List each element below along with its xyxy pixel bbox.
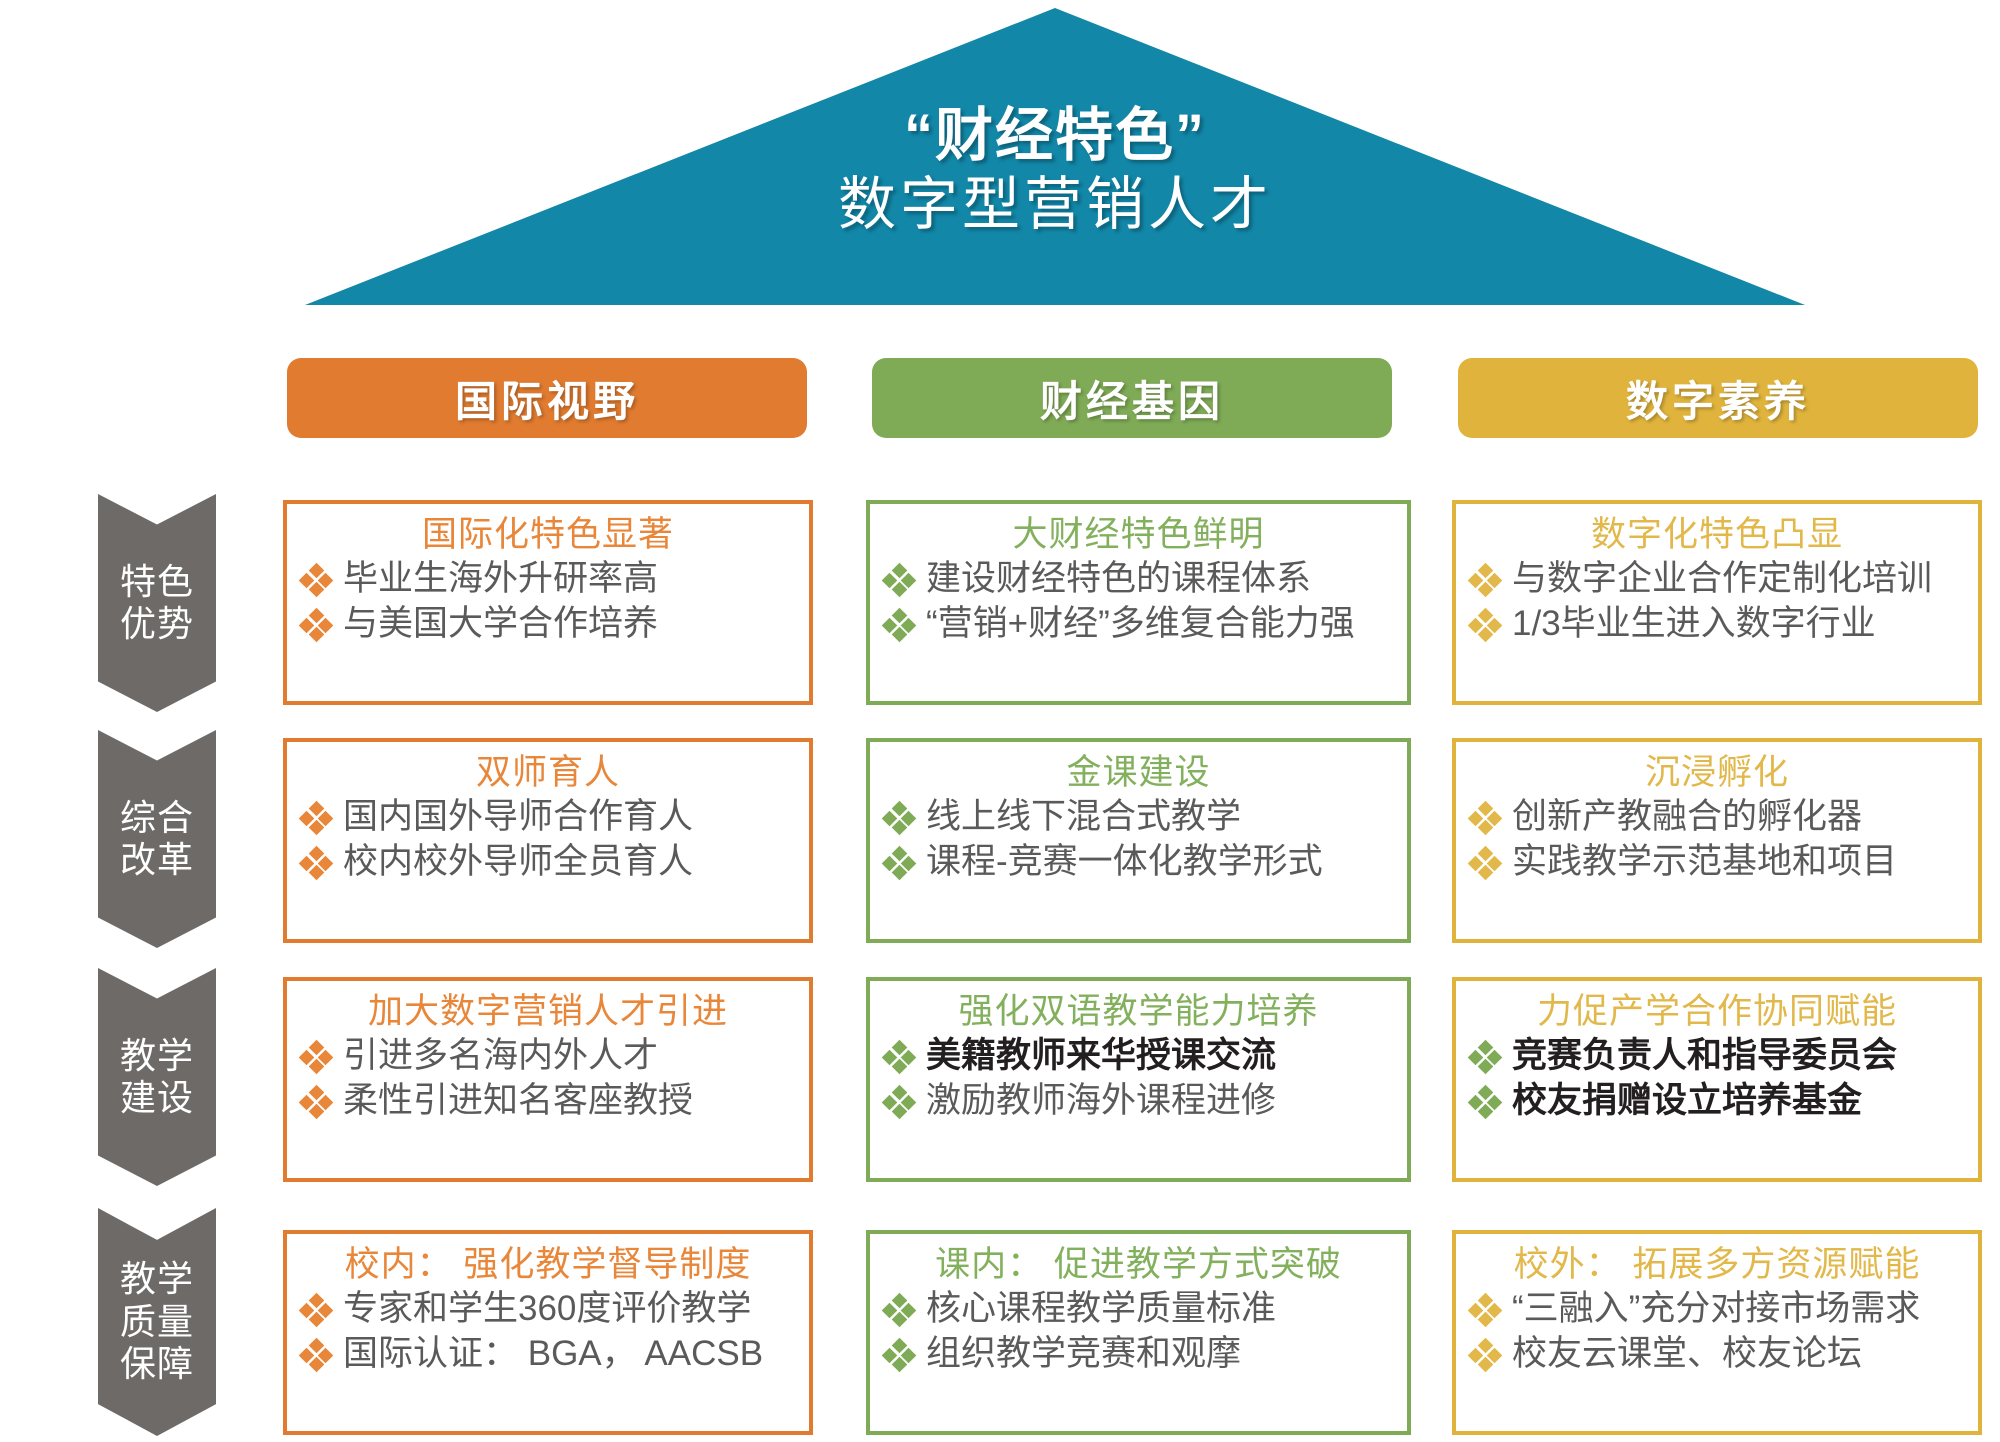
list-item: 线上线下混合式教学 bbox=[884, 795, 1393, 839]
list-item: 国际认证： BGA， AACSB bbox=[301, 1332, 795, 1376]
row-label-line: 建设 bbox=[120, 1077, 194, 1119]
roof-title-group: “财经特色” 数字型营销人才 bbox=[305, 104, 1805, 238]
card-finance-features[interactable]: 大财经特色鲜明建设财经特色的课程体系“营销+财经”多维复合能力强 bbox=[866, 500, 1411, 705]
list-item-text: 校内校外导师全员育人 bbox=[343, 840, 693, 884]
diamond-cluster-icon bbox=[1470, 848, 1500, 878]
slide-canvas: “财经特色” 数字型营销人才 国际视野 财经基因 数字素养 特色 优势 综合 改… bbox=[0, 0, 2000, 1442]
card-title: 沉浸孵化 bbox=[1470, 752, 1964, 793]
list-item: 实践教学示范基地和项目 bbox=[1470, 840, 1964, 884]
list-item-text: 激励教师海外课程进修 bbox=[926, 1079, 1276, 1123]
card-digital-quality[interactable]: 校外： 拓展多方资源赋能“三融入”充分对接市场需求校友云课堂、校友论坛 bbox=[1452, 1230, 1982, 1435]
list-item: “营销+财经”多维复合能力强 bbox=[884, 602, 1393, 646]
card-bullet-list: 专家和学生360度评价教学国际认证： BGA， AACSB bbox=[301, 1287, 795, 1376]
row-label-quality-assurance[interactable]: 教学 质量 保障 bbox=[98, 1208, 216, 1436]
list-item-text: 毕业生海外升研率高 bbox=[343, 557, 658, 601]
list-item: 1/3毕业生进入数字行业 bbox=[1470, 602, 1964, 646]
list-item-text: 与美国大学合作培养 bbox=[343, 602, 658, 646]
diamond-cluster-icon bbox=[1470, 1042, 1500, 1072]
card-bullet-list: “三融入”充分对接市场需求校友云课堂、校友论坛 bbox=[1470, 1287, 1964, 1376]
card-bullet-list: 核心课程教学质量标准组织教学竞赛和观摩 bbox=[884, 1287, 1393, 1376]
row-label-line: 综合 bbox=[120, 797, 194, 839]
list-item-text: 引进多名海内外人才 bbox=[343, 1034, 658, 1078]
card-title: 金课建设 bbox=[884, 752, 1393, 793]
card-title: 校内： 强化教学督导制度 bbox=[301, 1244, 795, 1285]
list-item: 引进多名海内外人才 bbox=[301, 1034, 795, 1078]
diamond-cluster-icon bbox=[884, 1042, 914, 1072]
diamond-cluster-icon bbox=[301, 1295, 331, 1325]
card-international-teaching[interactable]: 加大数字营销人才引进引进多名海内外人才柔性引进知名客座教授 bbox=[283, 977, 813, 1182]
list-item-text: 1/3毕业生进入数字行业 bbox=[1512, 602, 1876, 646]
card-digital-teaching[interactable]: 力促产学合作协同赋能竞赛负责人和指导委员会校友捐赠设立培养基金 bbox=[1452, 977, 1982, 1182]
row-label-features[interactable]: 特色 优势 bbox=[98, 494, 216, 712]
diamond-cluster-icon bbox=[301, 1042, 331, 1072]
roof-title-line2: 数字型营销人才 bbox=[305, 173, 1805, 238]
card-title: 力促产学合作协同赋能 bbox=[1470, 991, 1964, 1032]
list-item: 专家和学生360度评价教学 bbox=[301, 1287, 795, 1331]
card-digital-reform[interactable]: 沉浸孵化创新产教融合的孵化器实践教学示范基地和项目 bbox=[1452, 738, 1982, 943]
list-item-text: 校友云课堂、校友论坛 bbox=[1512, 1332, 1862, 1376]
row-label-line: 保障 bbox=[120, 1343, 194, 1385]
roof-banner: “财经特色” 数字型营销人才 bbox=[305, 8, 1805, 305]
list-item-text: 专家和学生360度评价教学 bbox=[343, 1287, 751, 1331]
card-title: 国际化特色显著 bbox=[301, 514, 795, 555]
diamond-cluster-icon bbox=[301, 848, 331, 878]
diamond-cluster-icon bbox=[884, 803, 914, 833]
list-item-text: 国际认证： BGA， AACSB bbox=[343, 1332, 763, 1376]
row-label-line: 改革 bbox=[120, 839, 194, 881]
card-title: 强化双语教学能力培养 bbox=[884, 991, 1393, 1032]
list-item-text: 建设财经特色的课程体系 bbox=[926, 557, 1311, 601]
diamond-cluster-icon bbox=[884, 1295, 914, 1325]
card-finance-teaching[interactable]: 强化双语教学能力培养美籍教师来华授课交流激励教师海外课程进修 bbox=[866, 977, 1411, 1182]
diamond-cluster-icon bbox=[884, 1340, 914, 1370]
card-title: 课内： 促进教学方式突破 bbox=[884, 1244, 1393, 1285]
list-item-text: 国内国外导师合作育人 bbox=[343, 795, 693, 839]
diamond-cluster-icon bbox=[301, 803, 331, 833]
diamond-cluster-icon bbox=[1470, 803, 1500, 833]
roof-title-line1: “财经特色” bbox=[305, 104, 1805, 169]
list-item: 创新产教融合的孵化器 bbox=[1470, 795, 1964, 839]
list-item: 校友捐赠设立培养基金 bbox=[1470, 1079, 1964, 1123]
list-item-text: 课程-竞赛一体化教学形式 bbox=[926, 840, 1323, 884]
list-item-text: 创新产教融合的孵化器 bbox=[1512, 795, 1862, 839]
card-finance-quality[interactable]: 课内： 促进教学方式突破核心课程教学质量标准组织教学竞赛和观摩 bbox=[866, 1230, 1411, 1435]
diamond-cluster-icon bbox=[1470, 565, 1500, 595]
list-item: 核心课程教学质量标准 bbox=[884, 1287, 1393, 1331]
column-header-finance[interactable]: 财经基因 bbox=[872, 358, 1392, 438]
card-bullet-list: 毕业生海外升研率高与美国大学合作培养 bbox=[301, 557, 795, 646]
list-item-text: “营销+财经”多维复合能力强 bbox=[926, 602, 1355, 646]
card-finance-reform[interactable]: 金课建设线上线下混合式教学课程-竞赛一体化教学形式 bbox=[866, 738, 1411, 943]
diamond-cluster-icon bbox=[301, 610, 331, 640]
card-bullet-list: 创新产教融合的孵化器实践教学示范基地和项目 bbox=[1470, 795, 1964, 884]
list-item: 校友云课堂、校友论坛 bbox=[1470, 1332, 1964, 1376]
list-item-text: 与数字企业合作定制化培训 bbox=[1512, 557, 1932, 601]
card-title: 大财经特色鲜明 bbox=[884, 514, 1393, 555]
diamond-cluster-icon bbox=[884, 1087, 914, 1117]
card-bullet-list: 美籍教师来华授课交流激励教师海外课程进修 bbox=[884, 1034, 1393, 1123]
card-title: 双师育人 bbox=[301, 752, 795, 793]
column-header-international[interactable]: 国际视野 bbox=[287, 358, 807, 438]
card-international-features[interactable]: 国际化特色显著毕业生海外升研率高与美国大学合作培养 bbox=[283, 500, 813, 705]
diamond-cluster-icon bbox=[1470, 610, 1500, 640]
diamond-cluster-icon bbox=[884, 848, 914, 878]
diamond-cluster-icon bbox=[1470, 1295, 1500, 1325]
list-item-text: 核心课程教学质量标准 bbox=[926, 1287, 1276, 1331]
list-item-text: 实践教学示范基地和项目 bbox=[1512, 840, 1897, 884]
list-item-text: 美籍教师来华授课交流 bbox=[926, 1034, 1276, 1078]
row-label-line: 优势 bbox=[120, 603, 194, 645]
list-item-text: 线上线下混合式教学 bbox=[926, 795, 1241, 839]
card-bullet-list: 竞赛负责人和指导委员会校友捐赠设立培养基金 bbox=[1470, 1034, 1964, 1123]
card-bullet-list: 引进多名海内外人才柔性引进知名客座教授 bbox=[301, 1034, 795, 1123]
card-bullet-list: 与数字企业合作定制化培训1/3毕业生进入数字行业 bbox=[1470, 557, 1964, 646]
column-header-digital[interactable]: 数字素养 bbox=[1458, 358, 1978, 438]
diamond-cluster-icon bbox=[301, 1340, 331, 1370]
list-item: 组织教学竞赛和观摩 bbox=[884, 1332, 1393, 1376]
list-item-text: 组织教学竞赛和观摩 bbox=[926, 1332, 1241, 1376]
card-title: 数字化特色凸显 bbox=[1470, 514, 1964, 555]
list-item: 美籍教师来华授课交流 bbox=[884, 1034, 1393, 1078]
card-bullet-list: 线上线下混合式教学课程-竞赛一体化教学形式 bbox=[884, 795, 1393, 884]
list-item: 与美国大学合作培养 bbox=[301, 602, 795, 646]
card-bullet-list: 建设财经特色的课程体系“营销+财经”多维复合能力强 bbox=[884, 557, 1393, 646]
row-label-teaching-construction[interactable]: 教学 建设 bbox=[98, 968, 216, 1186]
card-international-reform[interactable]: 双师育人国内国外导师合作育人校内校外导师全员育人 bbox=[283, 738, 813, 943]
list-item-text: 校友捐赠设立培养基金 bbox=[1512, 1079, 1862, 1123]
list-item-text: 竞赛负责人和指导委员会 bbox=[1512, 1034, 1897, 1078]
card-international-quality[interactable]: 校内： 强化教学督导制度专家和学生360度评价教学国际认证： BGA， AACS… bbox=[283, 1230, 813, 1435]
row-label-line: 质量 bbox=[120, 1301, 194, 1343]
diamond-cluster-icon bbox=[884, 565, 914, 595]
list-item: 激励教师海外课程进修 bbox=[884, 1079, 1393, 1123]
list-item: 课程-竞赛一体化教学形式 bbox=[884, 840, 1393, 884]
card-title: 加大数字营销人才引进 bbox=[301, 991, 795, 1032]
list-item: “三融入”充分对接市场需求 bbox=[1470, 1287, 1964, 1331]
list-item: 建设财经特色的课程体系 bbox=[884, 557, 1393, 601]
list-item: 柔性引进知名客座教授 bbox=[301, 1079, 795, 1123]
list-item: 校内校外导师全员育人 bbox=[301, 840, 795, 884]
list-item: 与数字企业合作定制化培训 bbox=[1470, 557, 1964, 601]
list-item: 竞赛负责人和指导委员会 bbox=[1470, 1034, 1964, 1078]
list-item-text: “三融入”充分对接市场需求 bbox=[1512, 1287, 1920, 1331]
card-title: 校外： 拓展多方资源赋能 bbox=[1470, 1244, 1964, 1285]
row-label-line: 教学 bbox=[120, 1258, 194, 1300]
diamond-cluster-icon bbox=[884, 610, 914, 640]
row-label-line: 特色 bbox=[120, 561, 194, 603]
list-item-text: 柔性引进知名客座教授 bbox=[343, 1079, 693, 1123]
card-bullet-list: 国内国外导师合作育人校内校外导师全员育人 bbox=[301, 795, 795, 884]
row-label-reform[interactable]: 综合 改革 bbox=[98, 730, 216, 948]
diamond-cluster-icon bbox=[1470, 1340, 1500, 1370]
diamond-cluster-icon bbox=[301, 1087, 331, 1117]
row-label-line: 教学 bbox=[120, 1035, 194, 1077]
card-digital-features[interactable]: 数字化特色凸显与数字企业合作定制化培训1/3毕业生进入数字行业 bbox=[1452, 500, 1982, 705]
list-item: 毕业生海外升研率高 bbox=[301, 557, 795, 601]
list-item: 国内国外导师合作育人 bbox=[301, 795, 795, 839]
diamond-cluster-icon bbox=[301, 565, 331, 595]
diamond-cluster-icon bbox=[1470, 1087, 1500, 1117]
